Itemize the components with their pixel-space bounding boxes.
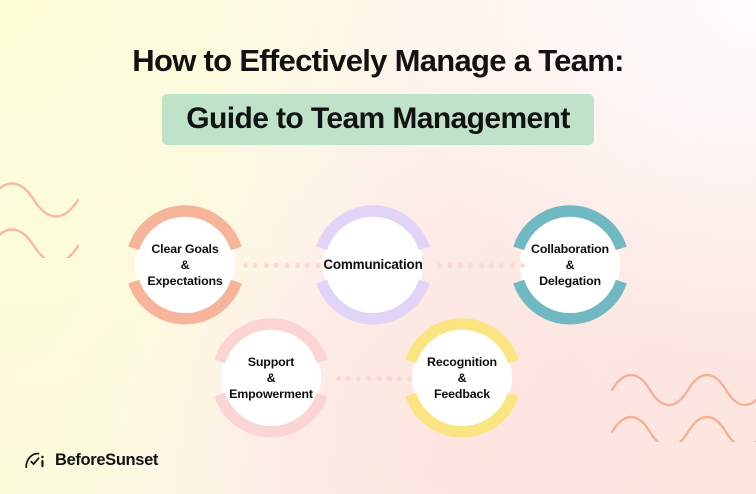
connector-dot bbox=[295, 263, 300, 268]
connector-dot bbox=[458, 263, 463, 268]
connector-dot bbox=[305, 263, 310, 268]
connector-dot bbox=[346, 376, 351, 381]
connector-dot bbox=[397, 376, 402, 381]
node-label-support: Support & Empowerment bbox=[229, 354, 313, 402]
connector-dot bbox=[407, 376, 412, 381]
connector-dot bbox=[316, 263, 321, 268]
concept-diagram: Clear Goals & Expectations Communication bbox=[0, 0, 756, 494]
node-label-line: Delegation bbox=[531, 273, 609, 289]
node-label-line: Empowerment bbox=[229, 386, 313, 402]
node-recognition[interactable]: Recognition & Feedback bbox=[401, 317, 523, 439]
connector-clear-goals-to-communication bbox=[243, 262, 331, 268]
connector-dot bbox=[243, 263, 248, 268]
sun-arc-check-icon bbox=[25, 452, 48, 469]
node-label-collaboration: Collaboration & Delegation bbox=[531, 241, 609, 289]
connector-dot bbox=[447, 263, 452, 268]
connector-dot bbox=[377, 376, 382, 381]
connector-dot bbox=[499, 263, 504, 268]
node-label-line: & bbox=[427, 370, 497, 386]
brand-name: BeforeSunset bbox=[55, 452, 158, 469]
node-communication[interactable]: Communication bbox=[312, 204, 434, 326]
node-collaboration[interactable]: Collaboration & Delegation bbox=[509, 204, 631, 326]
connector-dot bbox=[336, 376, 341, 381]
node-label-line: Expectations bbox=[147, 273, 222, 289]
node-label-line: Recognition bbox=[427, 354, 497, 370]
node-label-line: Communication bbox=[323, 256, 422, 273]
node-label-line: & bbox=[531, 257, 609, 273]
connector-dot bbox=[468, 263, 473, 268]
node-label-clear-goals: Clear Goals & Expectations bbox=[147, 241, 222, 289]
connector-dot bbox=[264, 263, 269, 268]
connector-dot bbox=[489, 263, 494, 268]
connector-communication-to-collaboration bbox=[437, 262, 525, 268]
brand-logo[interactable]: BeforeSunset bbox=[25, 452, 158, 469]
connector-dot bbox=[356, 376, 361, 381]
infographic-canvas: How to Effectively Manage a Team: Guide … bbox=[0, 0, 756, 494]
node-label-line: Support bbox=[229, 354, 313, 370]
node-label-line: Clear Goals bbox=[147, 241, 222, 257]
node-label-line: & bbox=[147, 257, 222, 273]
node-label-recognition: Recognition & Feedback bbox=[427, 354, 497, 402]
node-clear-goals[interactable]: Clear Goals & Expectations bbox=[124, 204, 246, 326]
connector-dot bbox=[520, 263, 525, 268]
connector-dot bbox=[285, 263, 290, 268]
node-label-line: & bbox=[229, 370, 313, 386]
node-label-line: Collaboration bbox=[531, 241, 609, 257]
connector-dot bbox=[253, 263, 258, 268]
connector-dot bbox=[366, 376, 371, 381]
node-support[interactable]: Support & Empowerment bbox=[210, 317, 332, 439]
connector-dot bbox=[437, 263, 442, 268]
connector-dot bbox=[387, 376, 392, 381]
connector-dot bbox=[479, 263, 484, 268]
connector-support-to-recognition bbox=[336, 375, 412, 381]
connector-dot bbox=[274, 263, 279, 268]
node-label-communication: Communication bbox=[323, 256, 422, 273]
node-label-line: Feedback bbox=[427, 386, 497, 402]
connector-dot bbox=[510, 263, 515, 268]
